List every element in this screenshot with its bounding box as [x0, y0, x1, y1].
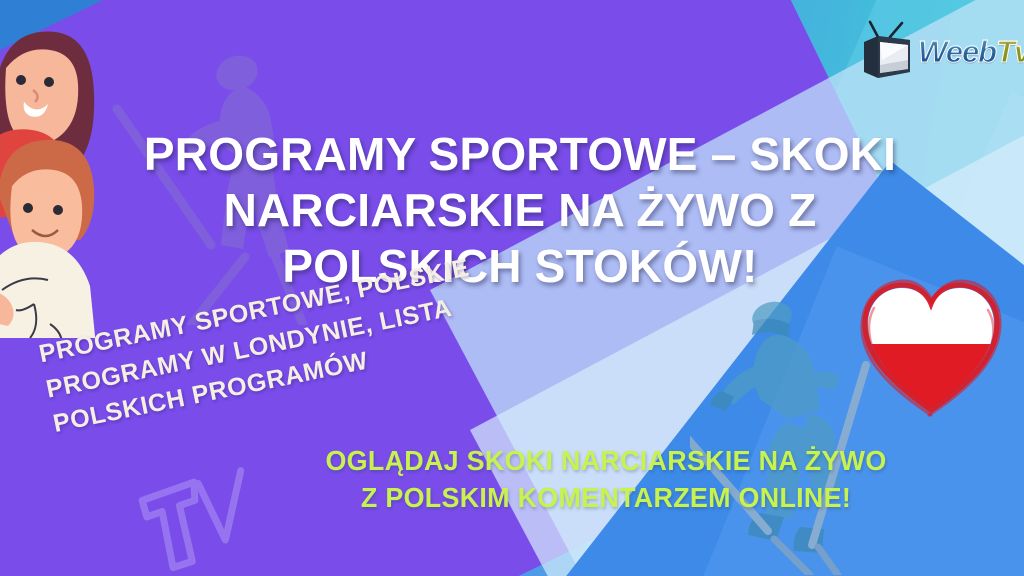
cta-line-2: Z POLSKIM KOMENTARZEM ONLINE!	[318, 480, 894, 517]
tv-icon	[858, 20, 914, 82]
weebtv-logo[interactable]: WeebTv	[858, 14, 1002, 88]
headline: PROGRAMY SPORTOWE – SKOKI NARCIARSKIE NA…	[80, 126, 960, 294]
headline-line-1: PROGRAMY SPORTOWE – SKOKI	[80, 126, 960, 182]
cta-line-1: OGLĄDAJ SKOKI NARCIARSKIE NA ŻYWO	[318, 443, 894, 480]
headline-line-2: NARCIARSKIE NA ŻYWO Z	[80, 182, 960, 238]
headline-line-3: POLSKICH STOKÓW!	[80, 238, 960, 294]
promo-banner: PROGRAMY SPORTOWE – SKOKI NARCIARSKIE NA…	[0, 0, 1024, 576]
logo-weeb-text: Weeb	[918, 34, 996, 69]
logo-tv-text: Tv	[996, 34, 1024, 69]
polish-flag-heart	[856, 268, 1006, 418]
cta-text: OGLĄDAJ SKOKI NARCIARSKIE NA ŻYWO Z POLS…	[318, 443, 894, 517]
tv-watermark-icon	[131, 459, 266, 576]
